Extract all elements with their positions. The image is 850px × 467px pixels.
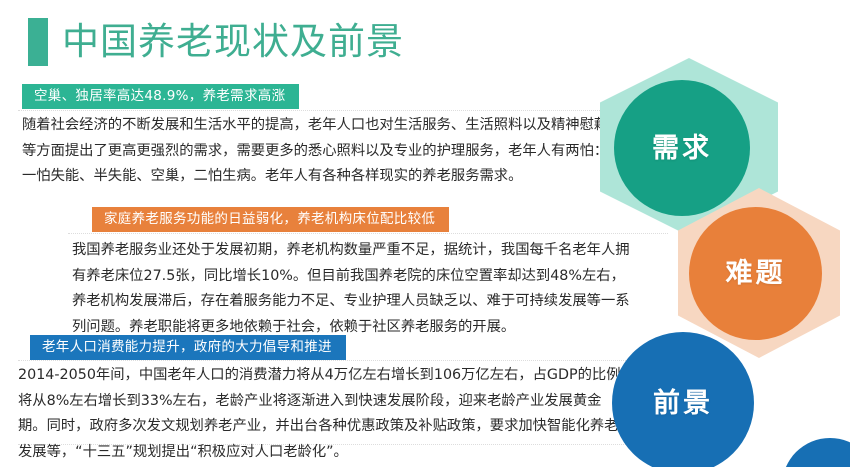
section-body-prospects: 2014-2050年间，中国老年人口的消费潜力将从4万亿左右增长到106万亿左右… bbox=[18, 363, 624, 465]
slide-canvas: 中国养老现状及前景 空巢、独居率高达48.9%，养老需求高涨 随着社会经济的不断… bbox=[0, 0, 850, 467]
title-text: 中国养老现状及前景 bbox=[62, 19, 404, 65]
section-body-problems: 我国养老服务业还处于发展初期，养老机构数量严重不足，据统计，我国每千名老年人拥有… bbox=[72, 238, 632, 340]
badge-disc: 前景 bbox=[612, 332, 754, 467]
page-title: 中国养老现状及前景 bbox=[28, 16, 404, 68]
layout-guide bbox=[68, 233, 668, 234]
section-banner-prospects: 老年人口消费能力提升，政府的大力倡导和推进 bbox=[30, 335, 346, 360]
layout-guide bbox=[18, 110, 658, 111]
section-body-needs: 随着社会经济的不断发展和生活水平的提高，老年人口也对生活服务、生活照料以及精神慰… bbox=[22, 113, 622, 190]
badge-prospects: 前景 bbox=[612, 332, 754, 467]
badge-label-problems: 难题 bbox=[726, 260, 786, 287]
title-accent-bar bbox=[28, 18, 48, 66]
badge-disc: 难题 bbox=[689, 207, 822, 340]
section-banner-needs: 空巢、独居率高达48.9%，养老需求高涨 bbox=[22, 84, 299, 109]
badge-label-needs: 需求 bbox=[652, 135, 712, 162]
decorative-circle bbox=[782, 438, 850, 467]
layout-guide bbox=[18, 360, 658, 361]
section-banner-problems: 家庭养老服务功能的日益弱化，养老机构床位配比较低 bbox=[92, 207, 449, 232]
badge-label-prospects: 前景 bbox=[653, 390, 713, 417]
